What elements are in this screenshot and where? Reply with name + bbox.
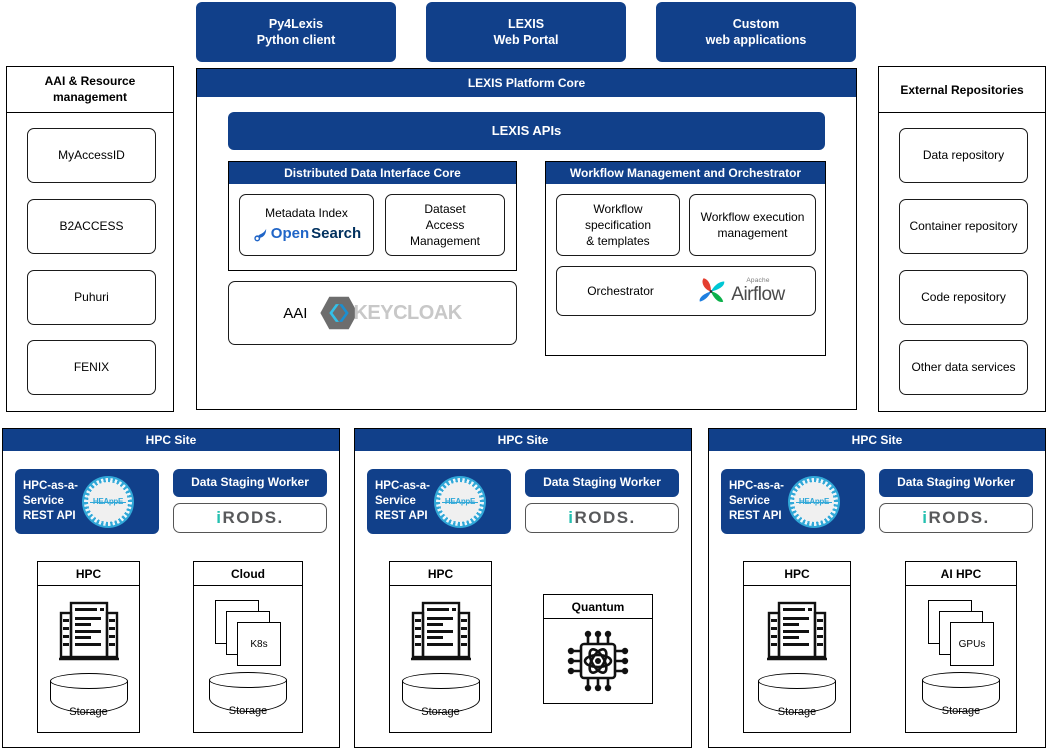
hpc-as-a-service-rest-api[interactable]: HPC-as-a- Service REST API HEAppE (15, 469, 159, 534)
apache-airflow-logo: Apache Airflow (694, 274, 785, 308)
lexis-platform-core-panel: LEXIS Platform Core LEXIS APIs Distribut… (196, 68, 857, 410)
irods-box[interactable]: iRODS. (879, 503, 1033, 533)
wmo-box-orchestrator[interactable]: Orchestrator Apache Airflow (556, 266, 816, 316)
data-staging-worker[interactable]: Data Staging Worker (879, 469, 1033, 497)
server-rack-icon (765, 599, 829, 667)
storage-label: Storage (758, 706, 836, 718)
irods-rest-text: RODS. (574, 508, 635, 528)
client-custom-web-applications[interactable]: Custom web applications (656, 2, 856, 62)
core-title: LEXIS Platform Core (197, 69, 856, 97)
metadata-index-label: Metadata Index (265, 205, 348, 221)
client-lexis-web-portal[interactable]: LEXIS Web Portal (426, 2, 626, 62)
irods-logo: iRODS. (568, 508, 636, 528)
storage-label: Storage (922, 705, 1000, 717)
irods-rest-text: RODS. (928, 508, 989, 528)
haas-label: HPC-as-a- Service REST API (375, 479, 430, 524)
panel-title: AAI & Resource management (7, 67, 173, 113)
ddi-box-metadata-index[interactable]: Metadata Index OpenSearch (239, 194, 374, 256)
item-label: Data repository (923, 147, 1004, 163)
client-subtitle: Python client (257, 32, 335, 48)
haas-label: HPC-as-a- Service REST API (729, 479, 784, 524)
irods-rest-text: RODS. (222, 508, 283, 528)
heappe-logo: HEAppE (82, 476, 134, 528)
opensearch-search-text: Search (311, 224, 361, 244)
airflow-pinwheel-icon (694, 274, 728, 308)
orchestrator-label: Orchestrator (587, 283, 654, 299)
irods-logo: iRODS. (216, 508, 284, 528)
client-subtitle: web applications (706, 32, 807, 48)
haas-label: HPC-as-a- Service REST API (23, 479, 78, 524)
server-rack-icon (57, 599, 121, 667)
hardware-cloud[interactable]: Cloud K8s Storage (193, 561, 303, 733)
hardware-title: HPC (390, 562, 491, 586)
client-applications-row: Py4Lexis Python client LEXIS Web Portal … (196, 2, 856, 62)
external-repositories-panel: External Repositories Data repository Co… (878, 66, 1046, 412)
storage-label: Storage (209, 705, 287, 717)
client-title: Py4Lexis (257, 16, 335, 32)
item-label: FENIX (74, 359, 109, 375)
client-title: Custom (706, 16, 807, 32)
client-subtitle: Web Portal (493, 32, 558, 48)
hpc-as-a-service-rest-api[interactable]: HPC-as-a- Service REST API HEAppE (721, 469, 865, 534)
dsw-label: Data Staging Worker (191, 475, 309, 491)
client-py4lexis[interactable]: Py4Lexis Python client (196, 2, 396, 62)
hpc-site-2: HPC Site HPC-as-a- Service REST API HEAp… (354, 428, 692, 748)
hpc-site-1: HPC Site HPC-as-a- Service REST API HEAp… (2, 428, 340, 748)
ext-item-container-repository[interactable]: Container repository (899, 199, 1028, 254)
hardware-quantum[interactable]: Quantum (543, 594, 653, 704)
aai-resource-management-panel: AAI & Resource management MyAccessID B2A… (6, 66, 174, 412)
site-title: HPC Site (3, 429, 339, 451)
hardware-title: Cloud (194, 562, 302, 586)
opensearch-logo: OpenSearch (252, 224, 361, 244)
irods-box[interactable]: iRODS. (525, 503, 679, 533)
ddi-title: Distributed Data Interface Core (229, 162, 516, 184)
storage-label: Storage (402, 706, 480, 718)
ext-item-other-data-services[interactable]: Other data services (899, 340, 1028, 395)
hardware-title: AI HPC (906, 562, 1016, 586)
panel-title: External Repositories (879, 67, 1045, 113)
lexis-apis-label: LEXIS APIs (492, 123, 562, 140)
aai-item-b2access[interactable]: B2ACCESS (27, 199, 156, 254)
item-label: Puhuri (74, 289, 109, 305)
lexis-apis-box[interactable]: LEXIS APIs (228, 112, 825, 150)
aai-item-myaccessid[interactable]: MyAccessID (27, 128, 156, 183)
hpc-as-a-service-rest-api[interactable]: HPC-as-a- Service REST API HEAppE (367, 469, 511, 534)
storage-cylinder: Storage (50, 673, 128, 719)
heappe-logo: HEAppE (788, 476, 840, 528)
item-label: B2ACCESS (59, 218, 123, 234)
aai-item-fenix[interactable]: FENIX (27, 340, 156, 395)
irods-box[interactable]: iRODS. (173, 503, 327, 533)
item-label: Container repository (909, 218, 1017, 234)
airflow-name-text: Airflow (731, 285, 785, 304)
workflow-management-orchestrator-panel: Workflow Management and Orchestrator Wor… (545, 161, 826, 356)
distributed-data-interface-core-panel: Distributed Data Interface Core Metadata… (228, 161, 517, 271)
ext-item-code-repository[interactable]: Code repository (899, 270, 1028, 325)
storage-cylinder: Storage (922, 672, 1000, 718)
dsw-label: Data Staging Worker (543, 475, 661, 491)
architecture-diagram: Py4Lexis Python client LEXIS Web Portal … (0, 0, 1051, 750)
stacked-cards-icon: K8s (215, 600, 281, 666)
irods-logo: iRODS. (922, 508, 990, 528)
hpc-site-3: HPC Site HPC-as-a- Service REST API HEAp… (708, 428, 1046, 748)
dsw-label: Data Staging Worker (897, 475, 1015, 491)
stacked-cards-icon: GPUs (928, 600, 994, 666)
opensearch-swirl-icon (252, 226, 269, 243)
client-title: LEXIS (493, 16, 558, 32)
heappe-logo: HEAppE (434, 476, 486, 528)
keycloak-text: KEYCLOAK (353, 302, 461, 325)
opensearch-open-text: Open (271, 224, 309, 244)
card-label: GPUs (950, 622, 994, 666)
aai-keycloak-box[interactable]: AAI KEYCLOAK (228, 281, 517, 345)
hardware-hpc[interactable]: HPC (743, 561, 851, 733)
aai-item-puhuri[interactable]: Puhuri (27, 270, 156, 325)
hardware-hpc[interactable]: HPC (37, 561, 140, 733)
wmo-box-workflow-execution[interactable]: Workflow execution management (689, 194, 816, 256)
data-staging-worker[interactable]: Data Staging Worker (525, 469, 679, 497)
ext-item-data-repository[interactable]: Data repository (899, 128, 1028, 183)
wmo-title: Workflow Management and Orchestrator (546, 162, 825, 184)
hardware-title: HPC (38, 562, 139, 586)
hardware-hpc[interactable]: HPC (389, 561, 492, 733)
hardware-ai-hpc[interactable]: AI HPC GPUs Storage (905, 561, 1017, 733)
aai-label: AAI (283, 305, 307, 322)
storage-cylinder: Storage (758, 673, 836, 719)
server-rack-icon (409, 599, 473, 667)
item-label: Code repository (921, 289, 1006, 305)
storage-cylinder: Storage (402, 673, 480, 719)
site-title: HPC Site (355, 429, 691, 451)
ddi-box-dataset-access-management[interactable]: Dataset Access Management (385, 194, 505, 256)
hardware-title: HPC (744, 562, 850, 586)
keycloak-logo: KEYCLOAK (319, 296, 461, 330)
wmo-box-workflow-specification[interactable]: Workflow specification & templates (556, 194, 680, 256)
card-label: K8s (237, 622, 281, 666)
workflow-execution-label: Workflow execution management (701, 209, 805, 241)
item-label: MyAccessID (58, 147, 125, 163)
storage-label: Storage (50, 706, 128, 718)
workflow-specification-label: Workflow specification & templates (585, 201, 651, 250)
quantum-chip-icon (562, 625, 634, 697)
hardware-title: Quantum (544, 595, 652, 619)
item-label: Other data services (911, 359, 1015, 375)
site-title: HPC Site (709, 429, 1045, 451)
dataset-access-management-label: Dataset Access Management (410, 201, 480, 250)
data-staging-worker[interactable]: Data Staging Worker (173, 469, 327, 497)
storage-cylinder: Storage (209, 672, 287, 718)
